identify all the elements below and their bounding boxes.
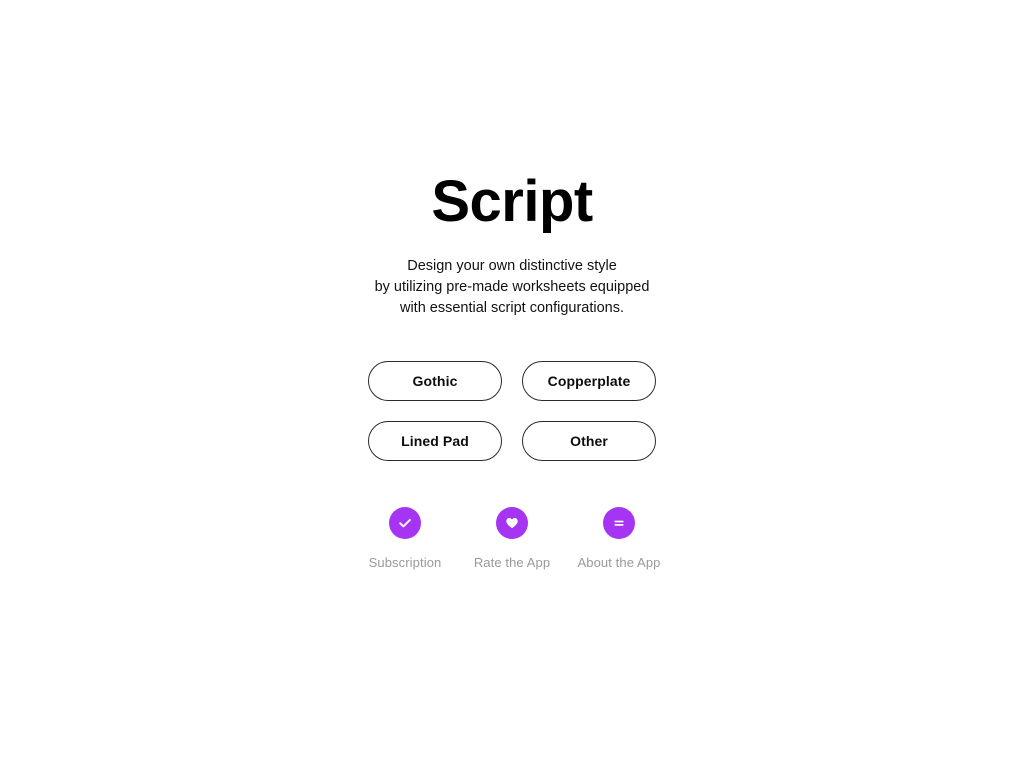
- subtitle-line-3: with essential script configurations.: [0, 298, 1024, 319]
- style-button-copperplate[interactable]: Copperplate: [522, 361, 656, 401]
- style-button-gothic[interactable]: Gothic: [368, 361, 502, 401]
- action-label-rate-the-app: Rate the App: [474, 555, 550, 570]
- app-screen: Script Design your own distinctive style…: [0, 0, 1024, 768]
- action-label-subscription: Subscription: [369, 555, 442, 570]
- equals-menu-icon: [603, 507, 635, 539]
- heart-icon: [496, 507, 528, 539]
- app-subtitle: Design your own distinctive style by uti…: [0, 256, 1024, 319]
- subtitle-line-2: by utilizing pre-made worksheets equippe…: [0, 277, 1024, 298]
- action-bar: Subscription Rate the App About the App: [355, 507, 669, 570]
- style-button-other[interactable]: Other: [522, 421, 656, 461]
- action-item-about-the-app[interactable]: About the App: [569, 507, 669, 570]
- action-item-subscription[interactable]: Subscription: [355, 507, 455, 570]
- style-options-group: Gothic Copperplate Lined Pad Other: [368, 361, 656, 461]
- style-button-lined-pad[interactable]: Lined Pad: [368, 421, 502, 461]
- action-item-rate-the-app[interactable]: Rate the App: [462, 507, 562, 570]
- check-icon: [389, 507, 421, 539]
- subtitle-line-1: Design your own distinctive style: [0, 256, 1024, 277]
- action-label-about-the-app: About the App: [578, 555, 661, 570]
- page-title: Script: [0, 169, 1024, 235]
